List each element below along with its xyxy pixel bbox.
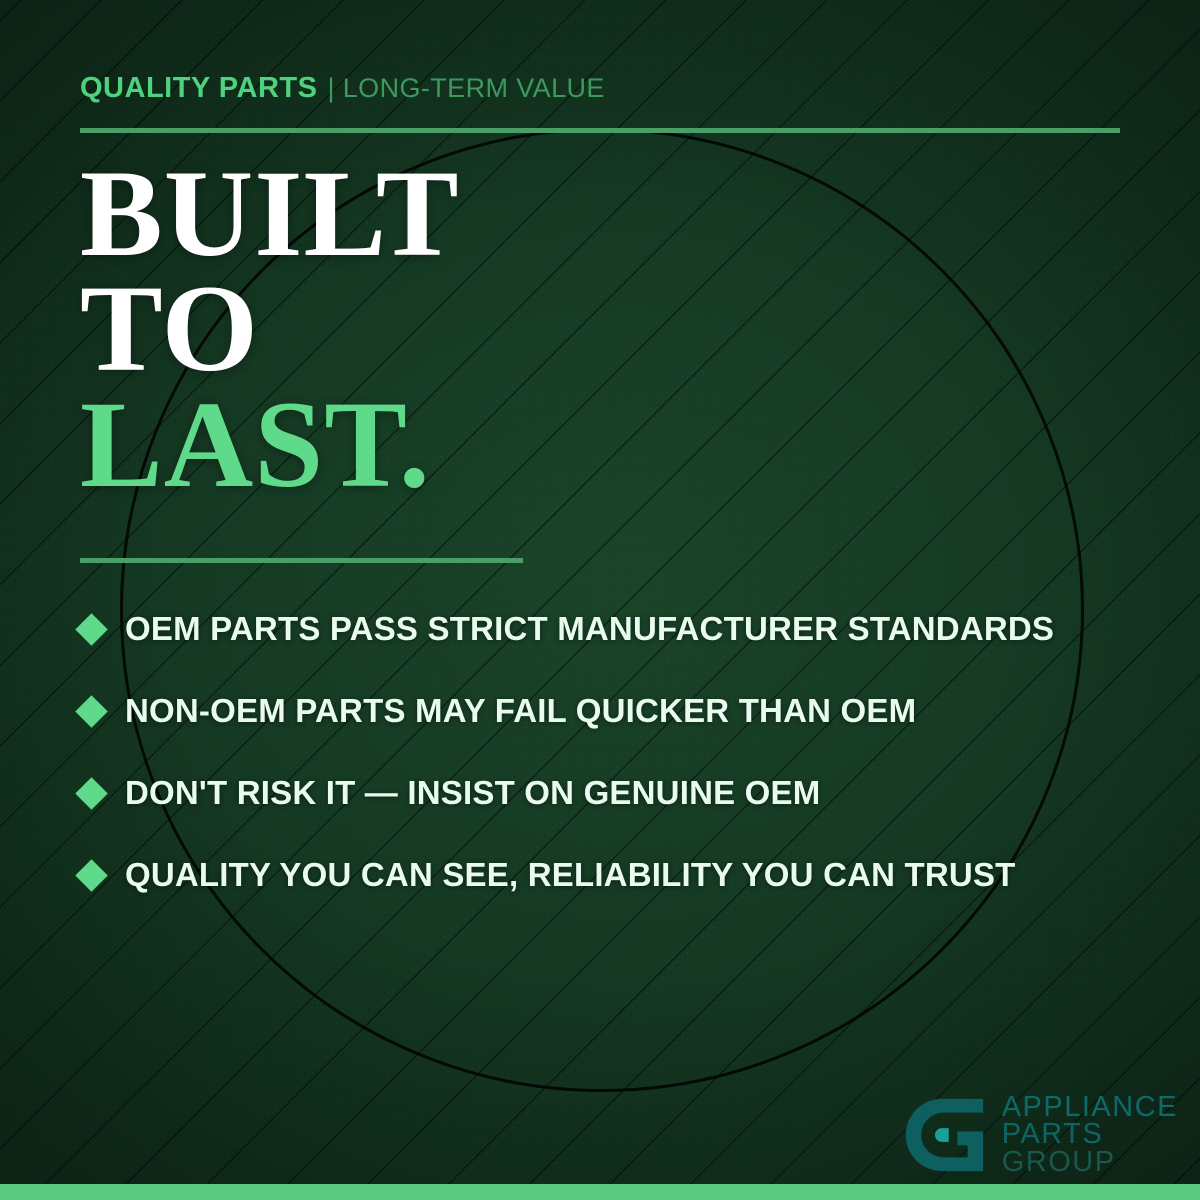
g-monogram-icon [904, 1092, 990, 1178]
headline-line-1: BUILT [80, 156, 460, 271]
diamond-bullet-icon [75, 613, 108, 646]
brand-line-3: GROUP [1002, 1149, 1178, 1176]
list-item: DON'T RISK IT — INSIST ON GENUINE OEM [80, 752, 1150, 834]
list-item: OEM PARTS PASS STRICT MANUFACTURER STAND… [80, 588, 1150, 670]
kicker-sub-label: | LONG-TERM VALUE [327, 73, 604, 103]
kicker: QUALITY PARTS| LONG-TERM VALUE [80, 74, 605, 103]
poster-content: QUALITY PARTS| LONG-TERM VALUE BUILT TO … [0, 0, 1200, 1200]
diamond-bullet-icon [75, 777, 108, 810]
list-item: NON-OEM PARTS MAY FAIL QUICKER THAN OEM [80, 670, 1150, 752]
headline-line-3: LAST. [80, 387, 460, 502]
brand-logo: APPLIANCE PARTS GROUP [904, 1092, 1178, 1178]
poster-canvas: QUALITY PARTS| LONG-TERM VALUE BUILT TO … [0, 0, 1200, 1200]
headline-line-2: TO [80, 271, 460, 386]
list-item-label: OEM PARTS PASS STRICT MANUFACTURER STAND… [125, 610, 1054, 648]
bottom-accent-bar [0, 1184, 1200, 1200]
divider-mid [80, 558, 523, 563]
brand-line-1: APPLIANCE [1002, 1094, 1178, 1121]
kicker-main-label: QUALITY PARTS [80, 72, 317, 104]
list-item-label: NON-OEM PARTS MAY FAIL QUICKER THAN OEM [125, 692, 916, 730]
diamond-bullet-icon [75, 695, 108, 728]
list-item-label: QUALITY YOU CAN SEE, RELIABILITY YOU CAN… [125, 856, 1016, 894]
brand-wordmark: APPLIANCE PARTS GROUP [1002, 1094, 1178, 1176]
list-item-label: DON'T RISK IT — INSIST ON GENUINE OEM [125, 774, 820, 812]
list-item: QUALITY YOU CAN SEE, RELIABILITY YOU CAN… [80, 834, 1150, 916]
headline: BUILT TO LAST. [80, 156, 460, 502]
brand-line-2: PARTS [1002, 1121, 1178, 1148]
divider-top [80, 128, 1120, 133]
bullet-list: OEM PARTS PASS STRICT MANUFACTURER STAND… [80, 588, 1150, 916]
diamond-bullet-icon [75, 859, 108, 892]
